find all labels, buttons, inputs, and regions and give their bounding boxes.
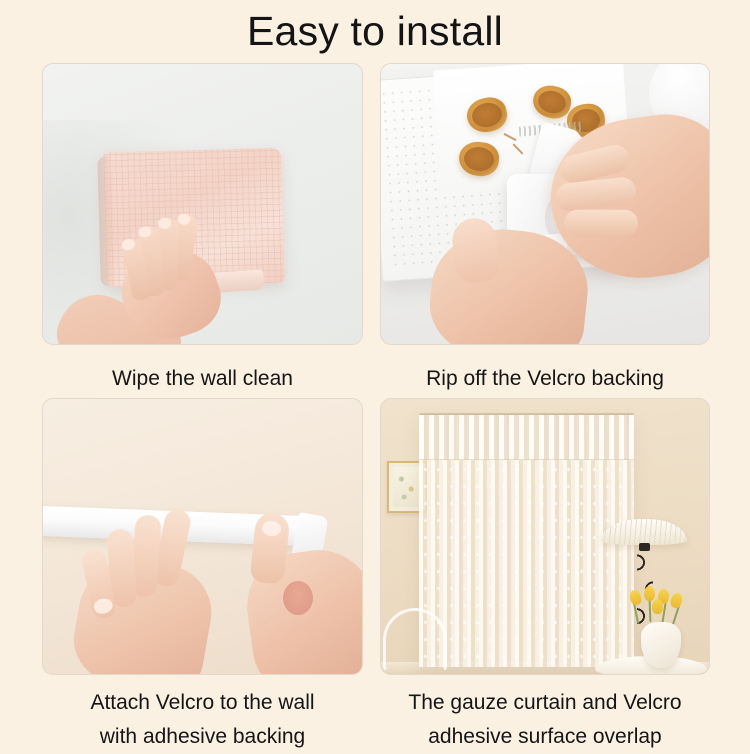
chair (383, 608, 447, 672)
finger-gap (283, 581, 313, 615)
step-4-photo (380, 398, 710, 675)
right-hand-icon (229, 503, 363, 675)
step-card-2: Rip off the Velcro backing (380, 63, 710, 396)
step-4-caption: The gauze curtain and Velcro adhesive su… (380, 686, 710, 754)
page-title: Easy to install (0, 8, 750, 54)
step-1-caption: Wipe the wall clean (42, 362, 363, 396)
fingernail (138, 226, 152, 238)
fingernail (177, 213, 192, 226)
fingernail (158, 218, 171, 229)
step-3-caption: Attach Velcro to the wall with adhesive … (42, 686, 363, 754)
lamp-shade (601, 519, 687, 545)
step-card-3: Attach Velcro to the wall with adhesive … (42, 398, 363, 754)
step-card-4: The gauze curtain and Velcro adhesive su… (380, 398, 710, 754)
step-1-photo (42, 63, 363, 345)
finger (564, 210, 638, 237)
fingernail (92, 597, 114, 616)
left-hand-icon (77, 507, 227, 675)
thumbnail (261, 520, 281, 537)
hand-icon (105, 216, 247, 345)
step-card-1: Wipe the wall clean (42, 63, 363, 396)
fingernail (121, 238, 136, 251)
step-2-photo (380, 63, 710, 345)
step-2-caption: Rip off the Velcro backing (380, 362, 710, 396)
infographic-page: Easy to install Wipe the wall clean (0, 0, 750, 750)
step-3-photo (42, 398, 363, 675)
